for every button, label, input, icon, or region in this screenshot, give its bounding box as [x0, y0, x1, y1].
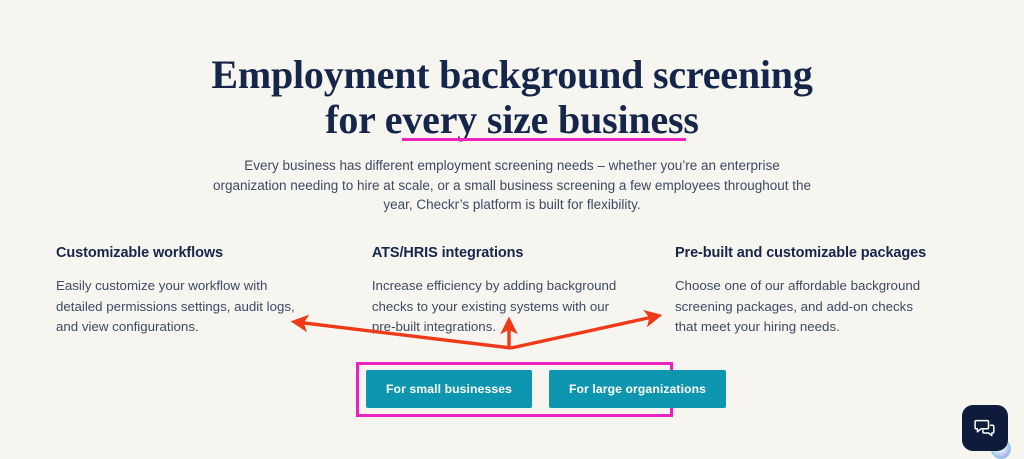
chat-widget-button[interactable]: [962, 405, 1008, 451]
chat-bubbles-icon: [973, 416, 997, 440]
feature-title: Pre-built and customizable packages: [675, 243, 938, 263]
page-title-line-1: Employment background screening: [211, 52, 812, 97]
feature-columns: Customizable workflows Easily customize …: [0, 243, 1024, 338]
feature-body: Increase efficiency by adding background…: [372, 276, 617, 338]
for-large-organizations-button[interactable]: For large organizations: [549, 370, 726, 408]
feature-column-workflows: Customizable workflows Easily customize …: [56, 243, 360, 338]
feature-title: Customizable workflows: [56, 243, 312, 263]
hero-section: Employment background screening for ever…: [0, 52, 1024, 142]
feature-title: ATS/HRIS integrations: [372, 243, 617, 263]
feature-body: Easily customize your workflow with deta…: [56, 276, 312, 338]
feature-body: Choose one of our affordable background …: [675, 276, 938, 338]
landing-page: Employment background screening for ever…: [0, 0, 1024, 459]
title-underline-highlight: [402, 138, 686, 141]
for-small-businesses-button[interactable]: For small businesses: [366, 370, 532, 408]
cta-button-row: For small businesses For large organizat…: [366, 370, 726, 408]
page-title: Employment background screening for ever…: [211, 52, 812, 142]
hero-subcopy: Every business has different employment …: [212, 156, 812, 215]
feature-column-integrations: ATS/HRIS integrations Increase efficienc…: [360, 243, 665, 338]
page-title-line-2: for every size business: [211, 97, 812, 142]
feature-column-packages: Pre-built and customizable packages Choo…: [665, 243, 968, 338]
